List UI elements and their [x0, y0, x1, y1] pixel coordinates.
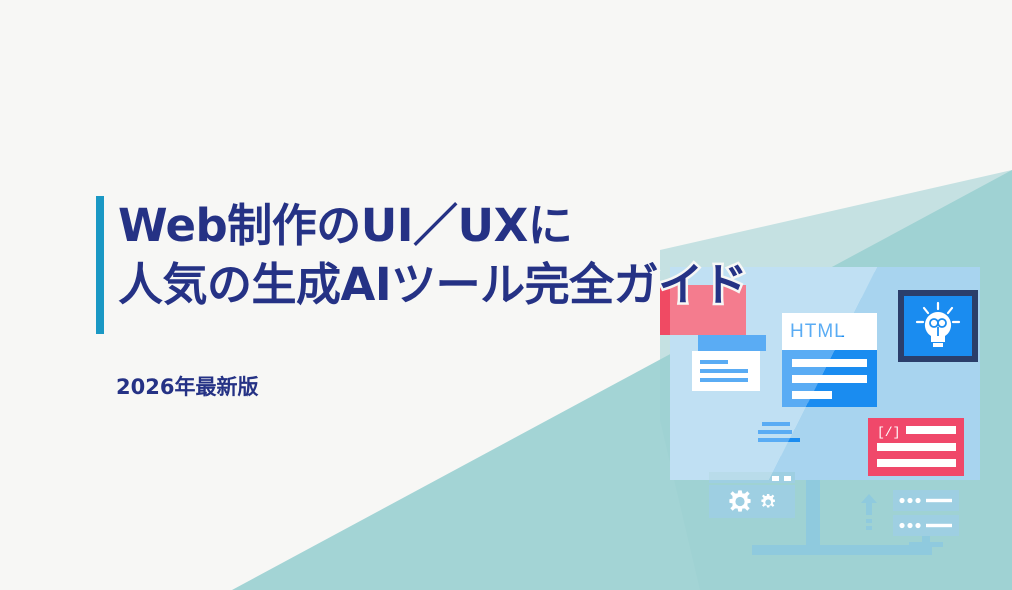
page-title-line-2: 人気の生成AIツール完全ガイド [118, 255, 918, 314]
server-upload-icon [859, 488, 964, 550]
gear-icon [709, 485, 795, 518]
page-title-line-1: Web制作のUI／UXに [118, 196, 918, 255]
page-subtitle: 2026年最新版 [116, 371, 258, 401]
gear-window-body [709, 485, 795, 518]
monitor-neck [806, 480, 820, 550]
server-rack-icon [859, 488, 964, 550]
page-title: Web制作のUI／UXに 人気の生成AIツール完全ガイド [118, 196, 918, 315]
hero-banner: HTML [0, 0, 1012, 590]
title-accent-bar [96, 196, 104, 334]
